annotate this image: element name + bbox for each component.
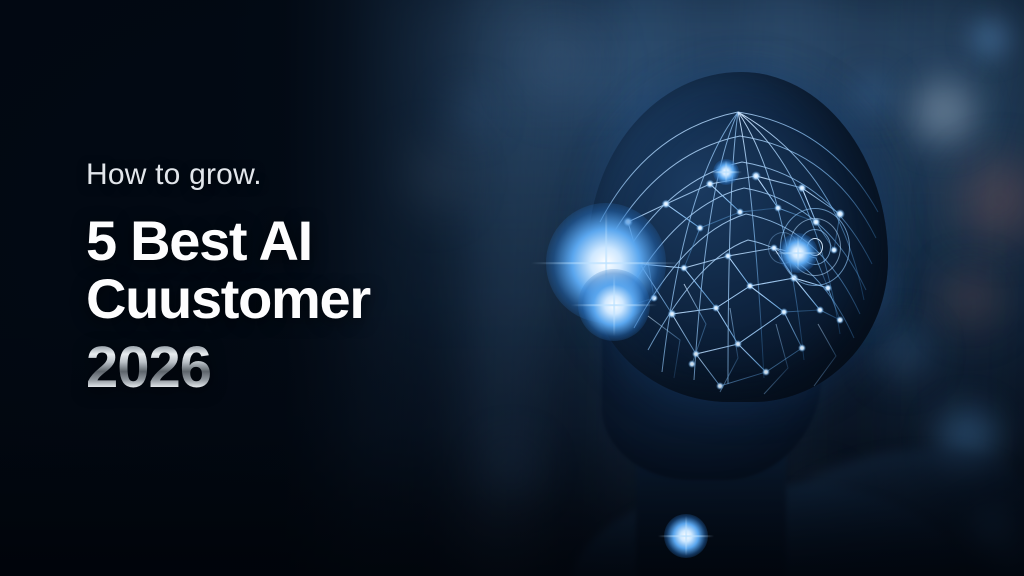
headline: 5 Best AI Cuustomer (86, 212, 516, 327)
thumbnail-canvas: How to grow. 5 Best AI Cuustomer 2026 (0, 0, 1024, 576)
headline-line-2: Cuustomer (86, 270, 516, 328)
year-text: 2026 (86, 339, 516, 397)
title-block: How to grow. 5 Best AI Cuustomer 2026 (86, 160, 516, 397)
headline-line-1: 5 Best AI (86, 209, 312, 272)
kicker-text: How to grow. (86, 160, 516, 190)
